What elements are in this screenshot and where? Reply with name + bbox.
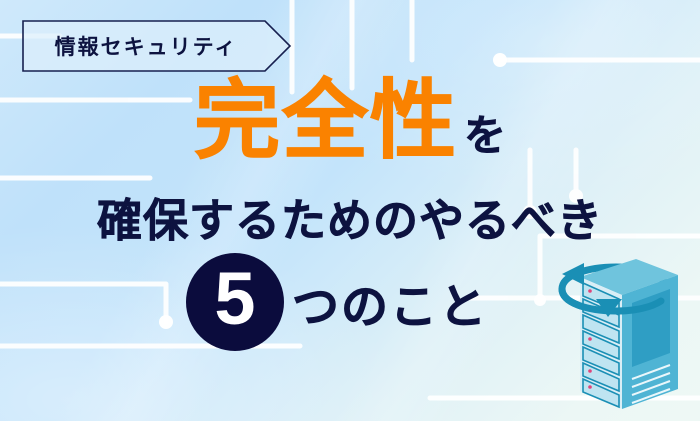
headline-highlight-kanji: 完全性 (194, 78, 458, 164)
headline-line-2: 確保するためのやるべき (0, 184, 700, 238)
category-ribbon: 情報セキュリティ (22, 20, 292, 72)
headline-particle-wo: を (464, 115, 506, 157)
security-banner: 情報セキュリティ 完全性 を 確保するためのやるべき 5 つのこと (0, 0, 700, 421)
circuit-node-node-right-top (493, 53, 507, 67)
headline-line-1: 完全性 を (0, 78, 700, 174)
count-badge-number: 5 (214, 262, 255, 336)
headline-line-2-text: 確保するためのやるべき (97, 184, 603, 249)
server-rack-illustration (544, 241, 694, 421)
count-badge: 5 (186, 253, 284, 351)
headline-line-3-tail: つのこと (292, 268, 488, 337)
category-ribbon-label: 情報セキュリティ (22, 20, 270, 72)
